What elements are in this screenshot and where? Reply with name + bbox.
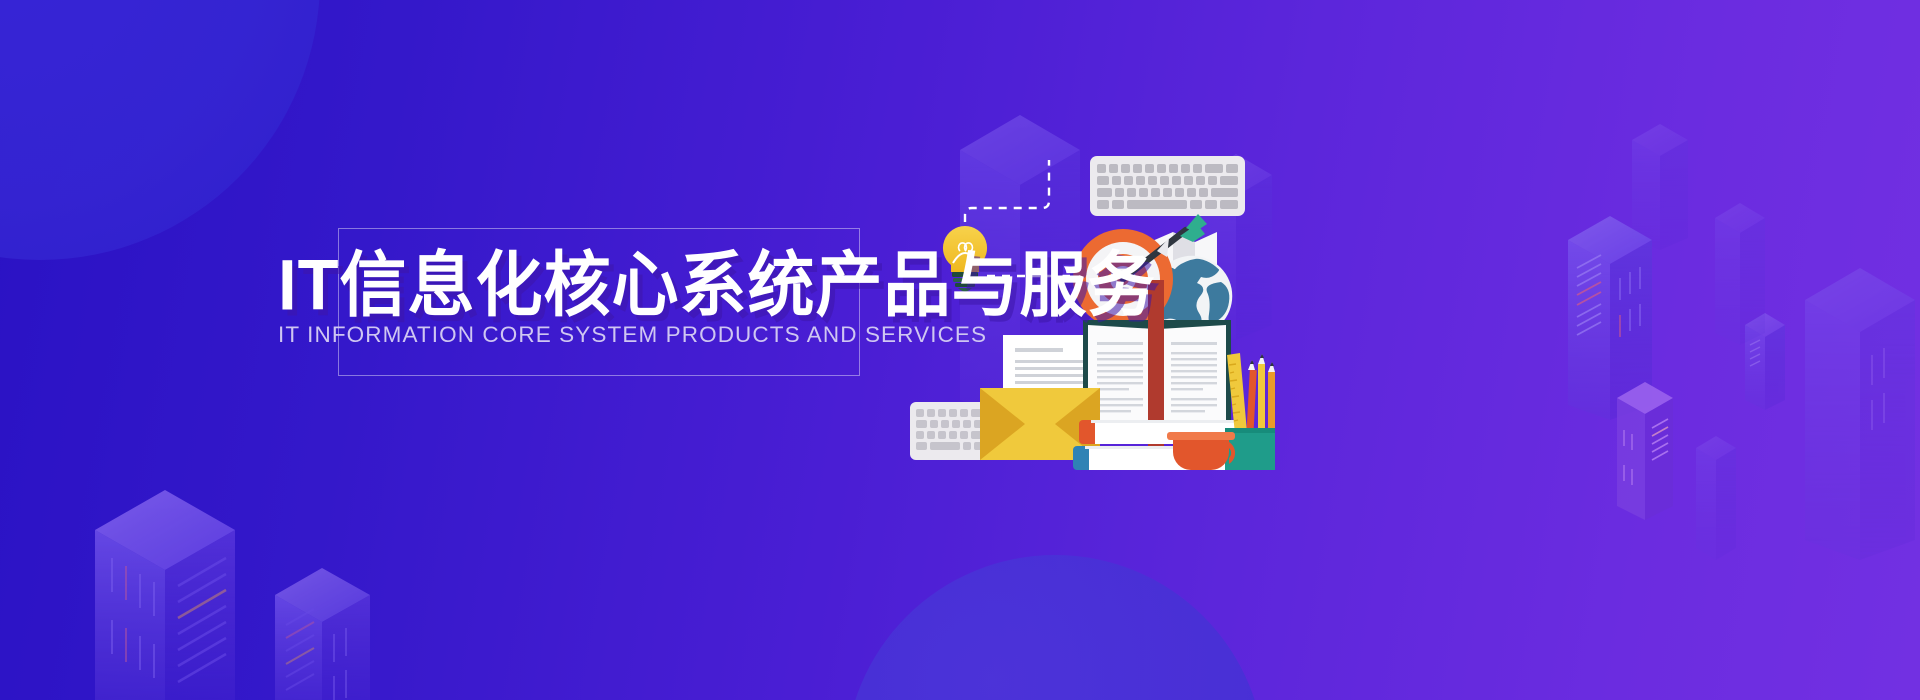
tower-right-mid-small [1745, 313, 1785, 410]
tower-left-large [95, 490, 235, 700]
keyboard-bottom-icon [910, 402, 988, 460]
tower-right-small-bright [1617, 382, 1673, 520]
page-subtitle: IT INFORMATION CORE SYSTEM PRODUCTS AND … [278, 322, 918, 348]
pencil-yellow [1258, 354, 1265, 438]
page-title: IT信息化核心系统产品与服务 [278, 252, 918, 319]
pencil-red [1246, 360, 1257, 438]
hero-banner: IT信息化核心系统产品与服务 IT INFORMATION CORE SYSTE… [0, 0, 1920, 700]
tower-right-slim-2 [1715, 203, 1765, 345]
tower-left-small [275, 568, 370, 700]
tower-right-vented [1568, 216, 1652, 420]
subtitle-text: IT INFORMATION CORE SYSTEM PRODUCTS AND … [278, 322, 918, 348]
circle-decoration-bottom-center [845, 555, 1265, 700]
pencil-orange [1268, 362, 1275, 438]
keyboard-top-icon [1090, 156, 1245, 216]
tower-far-right-large [1805, 268, 1915, 560]
tower-right-slim-3 [1696, 436, 1736, 560]
tower-right-faint [1632, 124, 1688, 250]
circle-decoration-top-left [0, 0, 320, 260]
title-text: IT信息化核心系统产品与服务 [278, 250, 918, 321]
